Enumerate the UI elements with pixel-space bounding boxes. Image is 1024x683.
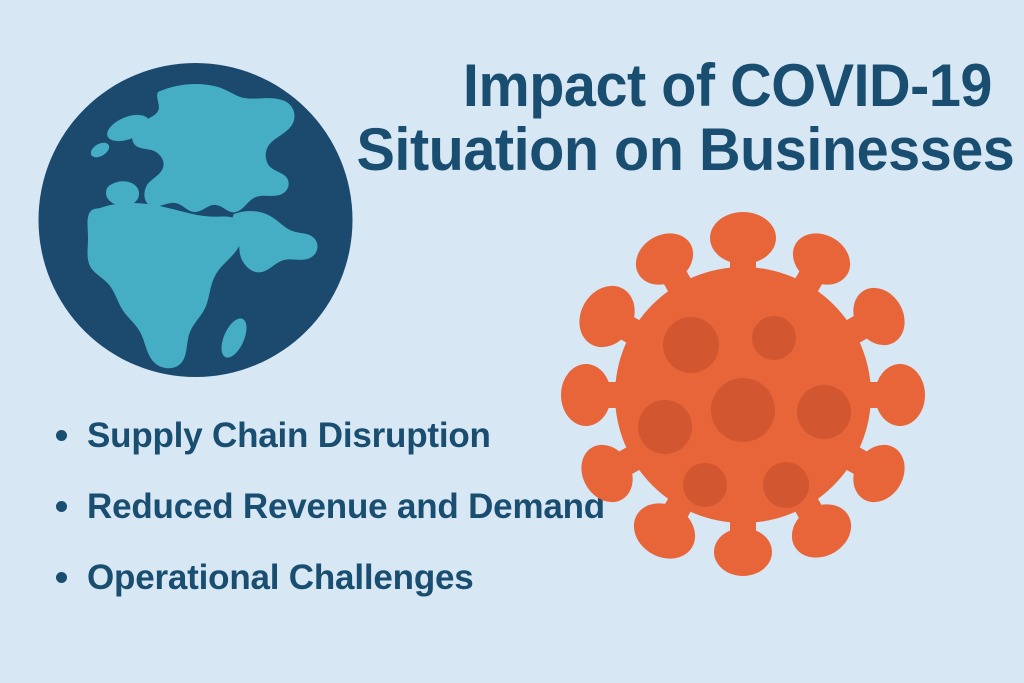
title-line-2: Situation on Businesses	[356, 118, 992, 182]
globe-icon	[38, 62, 353, 378]
page-title: Impact of COVID-19 Situation on Business…	[330, 54, 992, 182]
bullet-dot-icon	[56, 430, 67, 441]
title-line-1: Impact of COVID-19	[356, 54, 992, 118]
covid-impact-infographic: Impact of COVID-19 Situation on Business…	[0, 0, 1024, 683]
coronavirus-icon	[548, 204, 938, 586]
bullet-dot-icon	[56, 501, 67, 512]
impact-label-supply-chain: Supply Chain Disruption	[87, 417, 491, 455]
bullet-dot-icon	[56, 572, 67, 583]
impact-label-operational: Operational Challenges	[87, 559, 474, 597]
impact-label-revenue-demand: Reduced Revenue and Demand	[87, 488, 605, 526]
